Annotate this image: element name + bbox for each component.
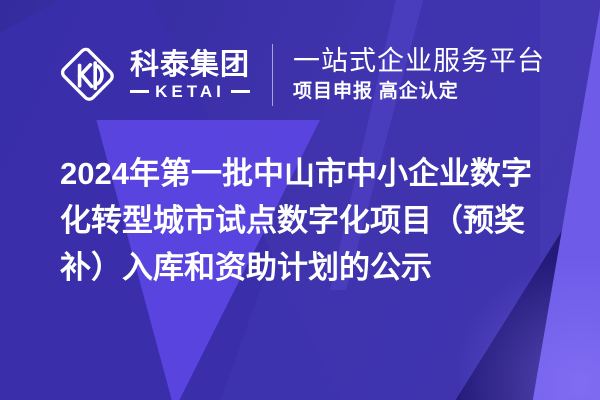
page-title: 2024年第一批中山市中小企业数字化转型城市试点数字化项目（预奖补）入库和资助计… <box>60 150 560 291</box>
ketai-diamond-monogram-icon <box>58 45 118 105</box>
banner-content: 科泰集团 KETAI 一站式企业服务平台 项目申报 高企认定 2024年第一批中… <box>0 0 600 400</box>
logo-dash-right <box>231 90 250 93</box>
tagline-group: 一站式企业服务平台 项目申报 高企认定 <box>293 46 545 104</box>
tagline-primary: 一站式企业服务平台 <box>293 46 545 77</box>
tagline-secondary: 项目申报 高企认定 <box>293 81 545 104</box>
logo-dash-left <box>130 90 149 93</box>
brand-header: 科泰集团 KETAI 一站式企业服务平台 项目申报 高企认定 <box>58 38 545 112</box>
header-divider <box>272 44 273 106</box>
logo-wordmark: 科泰集团 KETAI <box>130 50 250 100</box>
logo-company-name-en: KETAI <box>149 83 231 100</box>
promo-banner: 科泰集团 KETAI 一站式企业服务平台 项目申报 高企认定 2024年第一批中… <box>0 0 600 400</box>
logo-company-name-cn: 科泰集团 <box>130 50 250 80</box>
logo-company-name-en-row: KETAI <box>130 83 250 100</box>
